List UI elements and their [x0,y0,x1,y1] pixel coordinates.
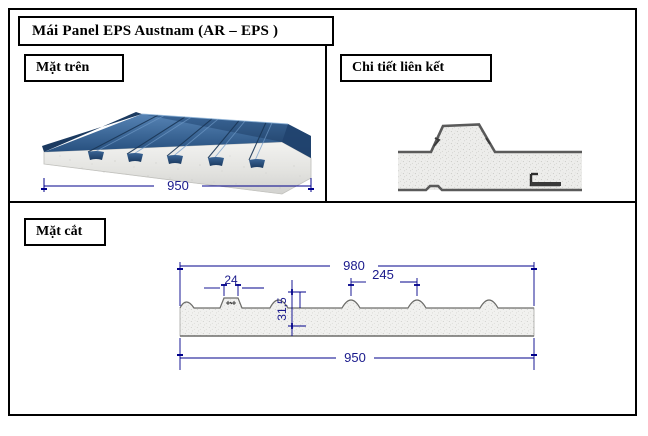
label-top-view: Mặt trên [26,60,89,76]
dimension-label-980: 980 [343,258,365,273]
drawing-top-view: 950 [30,106,322,198]
horizontal-divider [10,201,635,203]
dimension-label-31-5: 31,5 [275,297,289,321]
outer-frame: Mái Panel EPS Austnam (AR – EPS ) Mặt tr… [8,8,637,416]
dimension-label-245: 245 [372,267,394,282]
drawing-connection-detail [390,106,590,201]
detail-lock-plate [531,182,561,186]
dimension-label-950-top: 950 [167,178,189,193]
detail-foam-body [398,124,582,190]
label-section-view: Mặt cắt [26,224,82,240]
section-panel-body [180,298,534,336]
label-box-section-view: Mặt cắt [24,218,106,246]
label-box-top-view: Mặt trên [24,54,124,82]
drawing-section-view: 980 24 [160,248,580,378]
dimension-label-24: 24 [224,273,238,287]
label-box-connection-detail: Chi tiết liên kết [340,54,492,82]
dimension-label-950-section: 950 [344,350,366,365]
title-box: Mái Panel EPS Austnam (AR – EPS ) [18,16,334,46]
label-connection-detail: Chi tiết liên kết [342,60,444,76]
datasheet-canvas: Mái Panel EPS Austnam (AR – EPS ) Mặt tr… [0,0,648,436]
vertical-divider [325,46,327,201]
page-title: Mái Panel EPS Austnam (AR – EPS ) [20,23,278,40]
